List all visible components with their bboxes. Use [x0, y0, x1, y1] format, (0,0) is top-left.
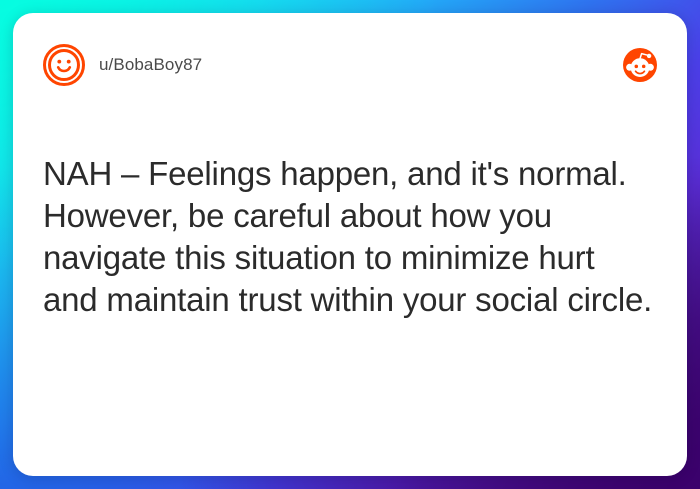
post-body-container: NAH – Feelings happen, and it's normal. …	[43, 91, 657, 476]
screenshot-stage: u/BobaBoy87 NAH – Feelings happen, and i…	[0, 0, 700, 489]
smiley-face-icon	[43, 44, 85, 86]
card-header: u/BobaBoy87	[43, 39, 657, 91]
post-body-text: NAH – Feelings happen, and it's normal. …	[43, 153, 655, 321]
reddit-snoo-icon[interactable]	[623, 48, 657, 82]
username-label: u/BobaBoy87	[99, 55, 202, 75]
reddit-comment-card: u/BobaBoy87 NAH – Feelings happen, and i…	[13, 13, 687, 476]
